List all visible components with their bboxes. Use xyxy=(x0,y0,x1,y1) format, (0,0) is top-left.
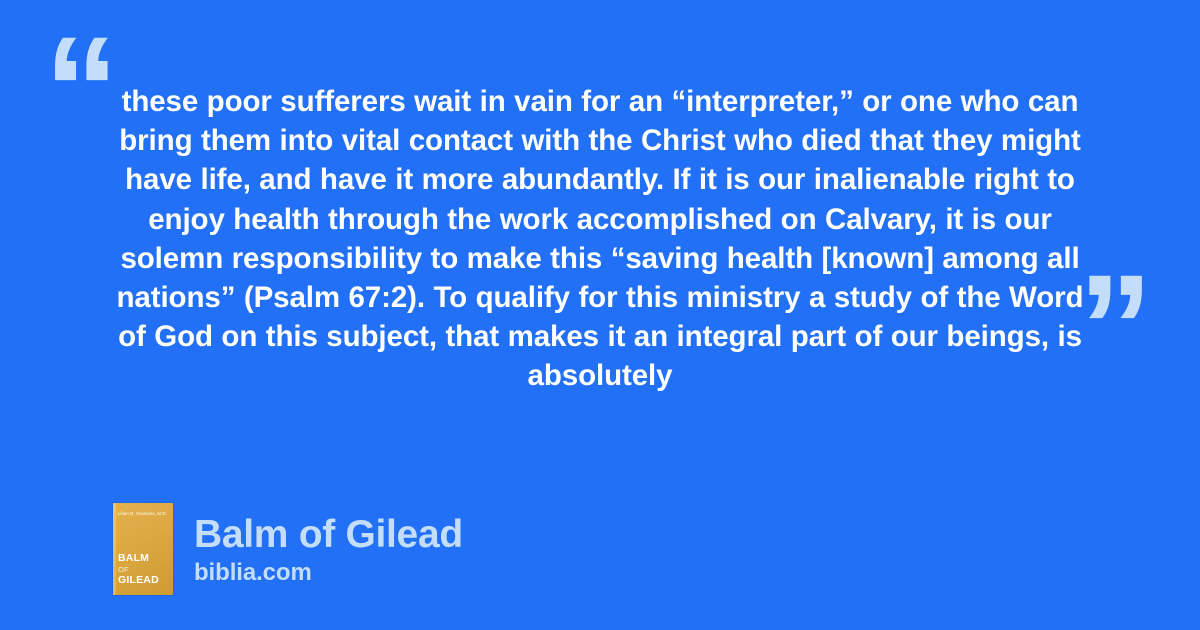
site-url[interactable]: biblia.com xyxy=(194,559,463,587)
quote-block: these poor sufferers wait in vain for an… xyxy=(100,82,1100,396)
book-cover-title-line-1: BALM xyxy=(118,553,170,565)
footer: Lilian B. Yeomans, M.D. BALM OF GILEAD B… xyxy=(113,503,463,595)
book-cover-title: BALM OF GILEAD xyxy=(118,553,170,586)
quote-text: these poor sufferers wait in vain for an… xyxy=(100,82,1100,396)
quote-card: “ these poor sufferers wait in vain for … xyxy=(0,0,1200,630)
book-cover-title-line-2: OF xyxy=(118,565,170,575)
closing-quote-icon: ” xyxy=(1078,252,1154,402)
book-cover-title-line-3: GILEAD xyxy=(118,575,170,587)
book-cover-thumbnail[interactable]: Lilian B. Yeomans, M.D. BALM OF GILEAD xyxy=(113,503,173,595)
footer-text: Balm of Gilead biblia.com xyxy=(194,512,463,587)
book-cover-author: Lilian B. Yeomans, M.D. xyxy=(118,511,169,516)
book-title: Balm of Gilead xyxy=(194,512,463,557)
